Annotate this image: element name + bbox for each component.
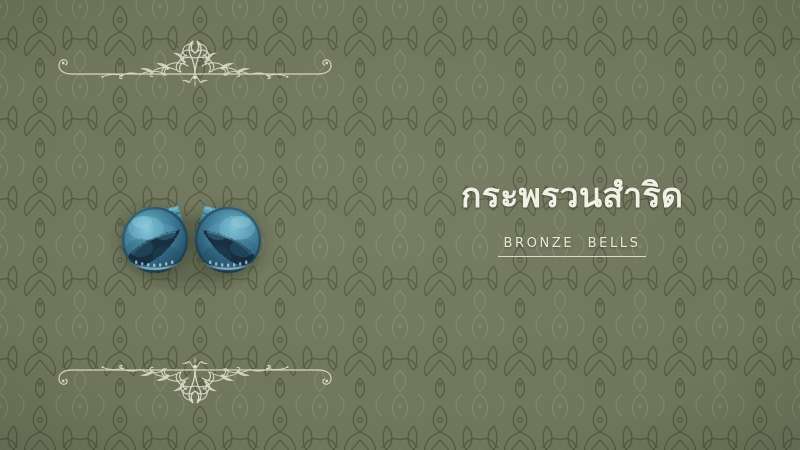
subtitle-underline-wrapper: BRONZE BELLS [498,232,647,257]
caption-block: กระพรวนสำริด BRONZE BELLS [380,178,764,257]
page-subtitle-english: BRONZE BELLS [504,236,641,251]
page-title-thai: กระพรวนสำริด [380,178,764,215]
slide-canvas: กระพรวนสำริด BRONZE BELLS [0,0,800,450]
bronze-bells-artifact-image [104,172,280,298]
bronze-bells-svg [104,172,280,298]
